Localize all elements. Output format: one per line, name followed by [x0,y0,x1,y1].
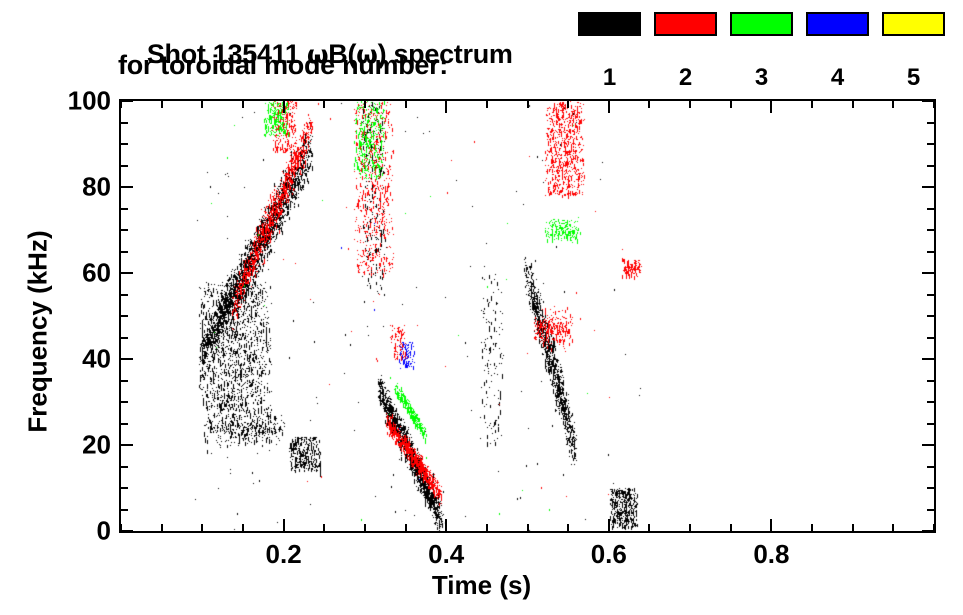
x-tick-bottom [852,524,854,531]
y-tick-left [121,251,128,253]
y-tick-right [927,337,934,339]
x-tick-top [689,101,691,108]
x-tick-bottom [527,524,529,531]
x-tick-bottom [689,524,691,531]
x-tick-top [648,101,650,108]
x-tick-top [161,101,163,108]
legend-swatch-4 [806,12,869,36]
x-tick-top [120,101,122,108]
y-tick-left [121,509,128,511]
y-tick-left [121,186,133,188]
x-tick-top [486,101,488,108]
x-axis-title: Time (s) [0,570,963,601]
legend-label-3: 3 [730,64,793,92]
legend-swatch-1 [578,12,641,36]
x-tick-bottom [770,519,772,531]
y-axis-title: Frequency (kHz) [23,212,54,452]
y-tick-label: 100 [23,86,111,117]
y-tick-right [927,509,934,511]
y-tick-left [121,165,128,167]
y-tick-left [121,294,128,296]
x-tick-bottom [364,524,366,531]
y-tick-right [927,229,934,231]
y-tick-right [927,315,934,317]
x-tick-top [527,101,529,108]
y-tick-right [927,401,934,403]
x-tick-top [283,101,285,113]
x-tick-bottom [730,524,732,531]
y-tick-left [121,487,128,489]
x-tick-bottom [648,524,650,531]
spectrogram-figure: Shot 135411 ωB(ω) spectrum for toroidal … [0,0,963,615]
x-tick-top [242,101,244,108]
y-tick-left [121,100,133,102]
y-tick-right [927,466,934,468]
legend-label-1: 1 [578,64,641,92]
x-tick-top [201,101,203,108]
y-tick-right [927,143,934,145]
x-tick-bottom [323,524,325,531]
y-tick-right [927,208,934,210]
x-tick-bottom [242,524,244,531]
x-tick-top [405,101,407,108]
y-tick-right [922,530,934,532]
y-tick-right [927,165,934,167]
y-tick-left [121,466,128,468]
x-tick-bottom [608,519,610,531]
y-tick-left [121,380,128,382]
y-tick-label: 80 [23,172,111,203]
legend-label-5: 5 [882,64,945,92]
x-tick-label: 0.4 [428,539,464,570]
x-tick-top [811,101,813,108]
plot-frame [119,99,936,533]
y-tick-left [121,229,128,231]
x-tick-bottom [161,524,163,531]
x-tick-bottom [567,524,569,531]
y-tick-right [927,294,934,296]
x-tick-top [770,101,772,113]
x-tick-top [445,101,447,113]
y-tick-right [922,358,934,360]
y-tick-right [927,122,934,124]
figure-title-line-2: for toroidal mode number: [118,50,448,81]
x-tick-bottom [445,519,447,531]
spectrogram-canvas [121,101,934,531]
legend-swatch-3 [730,12,793,36]
x-tick-top [364,101,366,108]
y-tick-left [121,423,128,425]
x-tick-top [852,101,854,108]
y-tick-label: 0 [23,516,111,547]
x-tick-top [892,101,894,108]
legend-swatch-2 [654,12,717,36]
x-tick-bottom [283,519,285,531]
x-tick-top [323,101,325,108]
y-tick-left [121,530,133,532]
legend: 12345 [578,12,958,84]
x-tick-top [730,101,732,108]
y-tick-left [121,122,128,124]
y-tick-right [927,380,934,382]
x-tick-top [608,101,610,113]
legend-label-4: 4 [806,64,869,92]
x-tick-bottom [405,524,407,531]
x-tick-label: 0.6 [591,539,627,570]
y-tick-right [922,272,934,274]
legend-label-2: 2 [654,64,717,92]
y-tick-left [121,401,128,403]
y-tick-right [922,444,934,446]
y-tick-right [927,423,934,425]
x-tick-top [567,101,569,108]
x-tick-label: 0.2 [266,539,302,570]
x-tick-label: 0.8 [753,539,789,570]
x-tick-bottom [201,524,203,531]
y-tick-right [927,251,934,253]
x-tick-top [933,101,935,108]
y-tick-left [121,315,128,317]
x-tick-bottom [486,524,488,531]
y-tick-right [927,487,934,489]
y-tick-left [121,444,133,446]
y-tick-left [121,208,128,210]
y-tick-left [121,358,133,360]
legend-swatch-5 [882,12,945,36]
y-tick-right [922,186,934,188]
y-tick-left [121,143,128,145]
y-tick-right [922,100,934,102]
x-tick-bottom [892,524,894,531]
x-tick-bottom [811,524,813,531]
y-tick-left [121,337,128,339]
y-tick-left [121,272,133,274]
